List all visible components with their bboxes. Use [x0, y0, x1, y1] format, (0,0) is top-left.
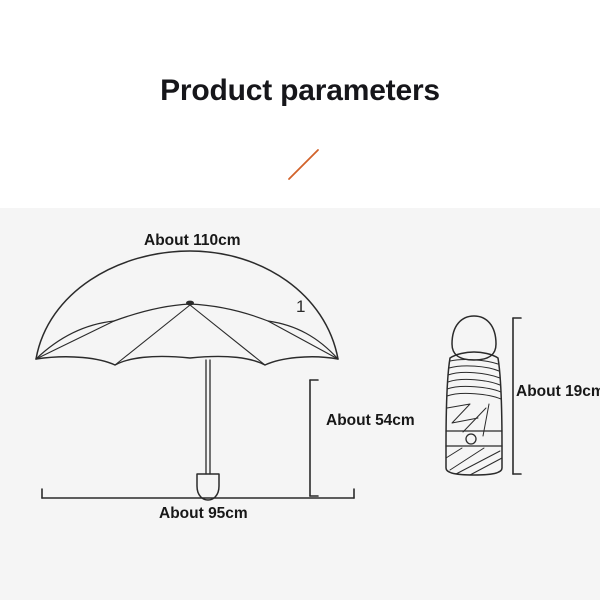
- header-section: Product parameters: [0, 0, 600, 208]
- product-parameters-page: Product parameters: [0, 0, 600, 600]
- label-folded-height: About 19cm: [516, 383, 600, 401]
- dimension-bracket-total-height: [310, 380, 318, 496]
- umbrella-dimension-diagram: [0, 208, 600, 600]
- folded-umbrella-drawing: [446, 316, 502, 475]
- rib-count-marker: 1: [296, 297, 305, 317]
- label-total-height: About 54cm: [326, 412, 415, 430]
- page-title: Product parameters: [0, 74, 600, 108]
- open-umbrella-drawing: [36, 251, 338, 500]
- diagonal-slash-icon: [287, 147, 321, 181]
- label-canopy-span: About 110cm: [144, 232, 240, 250]
- diagram-panel: [0, 208, 600, 600]
- label-total-width: About 95cm: [159, 505, 248, 523]
